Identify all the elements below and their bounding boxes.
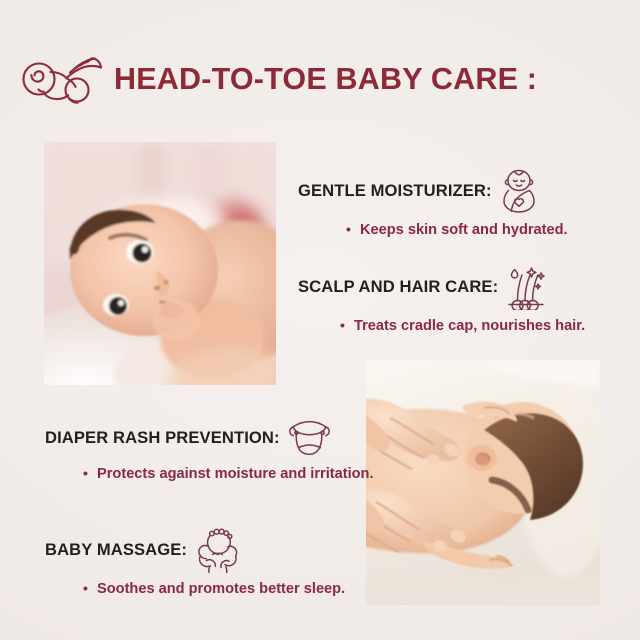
photo-baby-massage	[366, 360, 600, 605]
photo-baby-face-image	[44, 142, 276, 385]
diaper-icon	[287, 418, 331, 458]
page-title: HEAD-TO-TOE BABY CARE :	[114, 64, 537, 95]
hands-massaging-foot-icon	[196, 527, 240, 573]
infographic-poster: HEAD-TO-TOE BABY CARE :	[0, 0, 640, 640]
swaddled-baby-icon	[499, 168, 539, 214]
poster-header: HEAD-TO-TOE BABY CARE :	[18, 48, 537, 110]
block-diaper-rash: DIAPER RASH PREVENTION: Protect	[45, 418, 374, 484]
baby-massage-logo-icon	[18, 48, 106, 110]
bullet-item: Treats cradle cap, nourishes hair.	[340, 317, 585, 336]
bullet-list: Soothes and promotes better sleep.	[83, 580, 345, 599]
heading-row: GENTLE MOISTURIZER:	[298, 168, 568, 214]
bullet-item: Protects against moisture and irritation…	[83, 465, 374, 484]
heading-diaper-rash-prevention: DIAPER RASH PREVENTION:	[45, 430, 280, 447]
block-baby-massage: BABY MASSAGE:	[45, 527, 345, 599]
block-scalp-hair-care: SCALP AND HAIR CARE:	[298, 264, 585, 336]
photo-baby-massage-image	[366, 360, 600, 605]
heading-gentle-moisturizer: GENTLE MOISTURIZER:	[298, 183, 492, 200]
bullet-item: Keeps skin soft and hydrated.	[346, 221, 568, 240]
hair-follicles-icon	[505, 264, 551, 310]
bullet-item: Soothes and promotes better sleep.	[83, 580, 345, 599]
heading-scalp-hair-care: SCALP AND HAIR CARE:	[298, 279, 498, 296]
heading-baby-massage: BABY MASSAGE:	[45, 542, 187, 559]
bullet-list: Treats cradle cap, nourishes hair.	[340, 317, 585, 336]
bullet-list: Protects against moisture and irritation…	[83, 465, 374, 484]
photo-baby-face	[44, 142, 276, 385]
block-gentle-moisturizer: GENTLE MOISTURIZER: Keeps skin soft and …	[298, 168, 568, 240]
heading-row: DIAPER RASH PREVENTION:	[45, 418, 374, 458]
heading-row: BABY MASSAGE:	[45, 527, 345, 573]
heading-row: SCALP AND HAIR CARE:	[298, 264, 585, 310]
bullet-list: Keeps skin soft and hydrated.	[346, 221, 568, 240]
